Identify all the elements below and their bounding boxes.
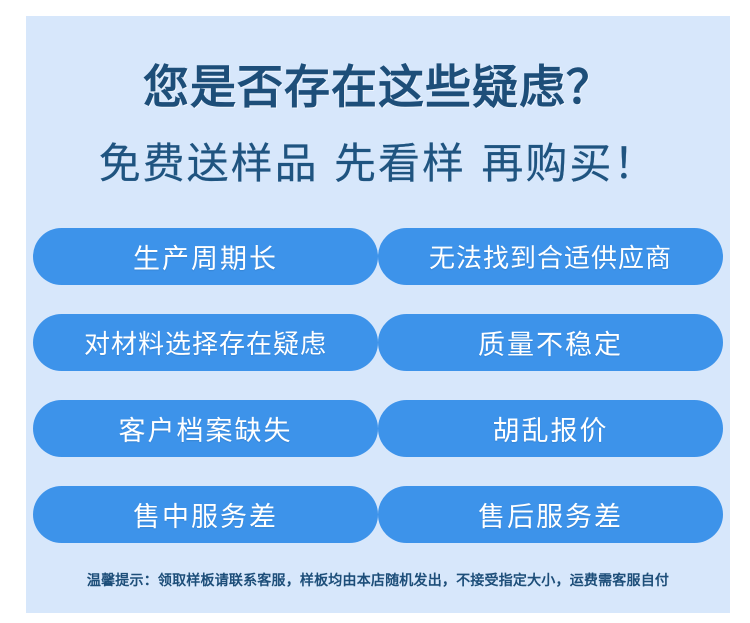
pill-production-cycle[interactable]: 生产周期长	[33, 228, 378, 285]
pill-missing-customer-file[interactable]: 客户档案缺失	[33, 400, 378, 457]
pill-row: 对材料选择存在疑虑 质量不稳定	[33, 314, 723, 371]
promo-panel: 您是否存在这些疑虑？ 免费送样品 先看样 再购买！ 生产周期长 无法找到合适供应…	[26, 16, 730, 613]
pill-poor-during-sale-service[interactable]: 售中服务差	[33, 486, 378, 543]
footnote-tip: 温馨提示：领取样板请联系客服，样板均由本店随机发出，不接受指定大小，运费需客服自…	[26, 571, 730, 591]
pill-poor-after-sale-service[interactable]: 售后服务差	[378, 486, 723, 543]
concern-pill-grid: 生产周期长 无法找到合适供应商 对材料选择存在疑虑 质量不稳定 客户档案缺失 胡…	[33, 228, 723, 572]
pill-row: 售中服务差 售后服务差	[33, 486, 723, 543]
page-title: 您是否存在这些疑虑？	[26, 60, 730, 114]
pill-row: 客户档案缺失 胡乱报价	[33, 400, 723, 457]
pill-material-doubt[interactable]: 对材料选择存在疑虑	[33, 314, 378, 371]
pill-random-quotation[interactable]: 胡乱报价	[378, 400, 723, 457]
page-subtitle: 免费送样品 先看样 再购买！	[26, 138, 730, 190]
pill-find-supplier[interactable]: 无法找到合适供应商	[378, 228, 723, 285]
pill-unstable-quality[interactable]: 质量不稳定	[378, 314, 723, 371]
pill-row: 生产周期长 无法找到合适供应商	[33, 228, 723, 285]
